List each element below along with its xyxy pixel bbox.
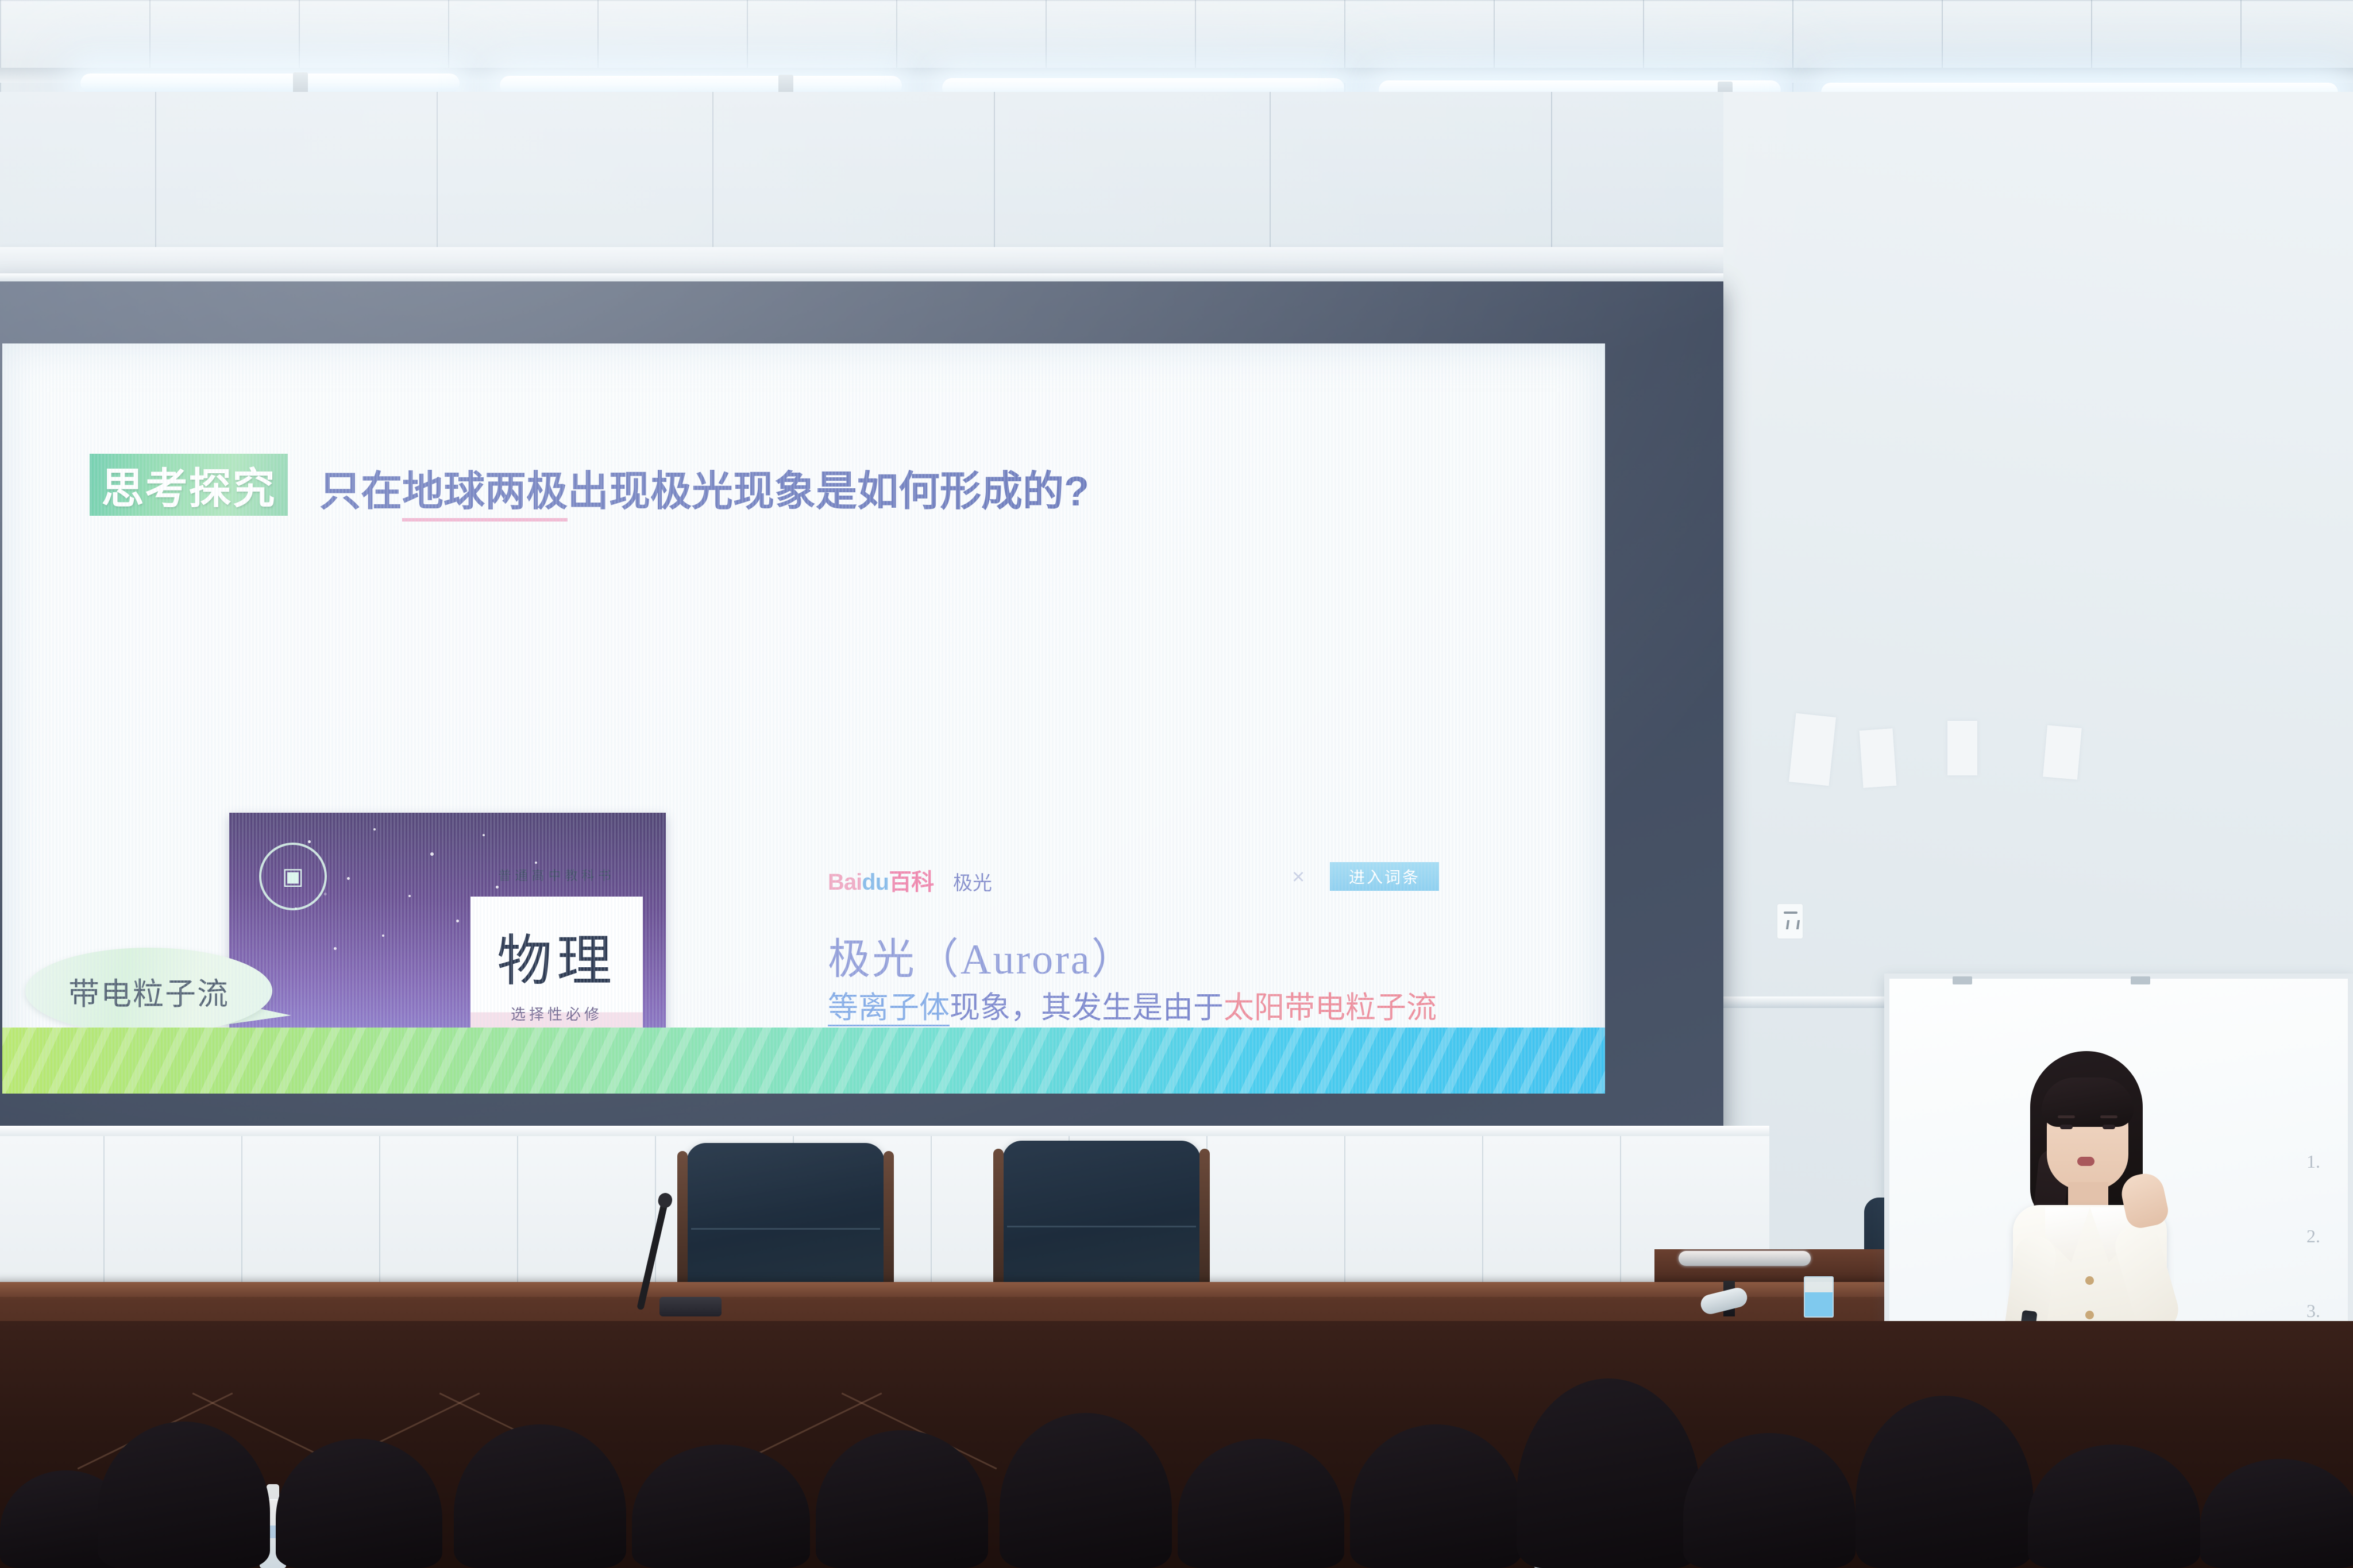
classroom-scene: 思考探究 只在地球两极出现极光现象是如何形成的? (0, 0, 2353, 1568)
microphone-base (659, 1297, 722, 1316)
speech-bubble-label: 带电粒子流 (68, 968, 229, 1014)
presenter-mouth (2077, 1157, 2094, 1166)
textbook-emblem-icon: ▣ (259, 843, 327, 910)
baike-entry-term: 极光 (953, 867, 992, 895)
run-1: 现象，其发生是由于 (950, 991, 1224, 1025)
logo-du: du (862, 870, 889, 895)
enter-entry-button-label: 进入词条 (1349, 865, 1420, 888)
tape-residue (1860, 728, 1897, 788)
section-badge: 思考探究 (90, 454, 288, 516)
logo-baike: 百科 (889, 870, 934, 895)
whiteboard-note-1: 1. (2306, 1151, 2320, 1172)
balance-beam-apparatus (1679, 1251, 1811, 1266)
run-plasma: 等离子体 (828, 991, 950, 1026)
baike-heading: 极光（Aurora） (828, 925, 1136, 986)
speech-bubble: 带电粒子流 (25, 948, 272, 1034)
power-outlet-icon (1777, 903, 1803, 939)
tape-residue (1947, 721, 1977, 775)
textbook-series: 选择性必修 (511, 1003, 603, 1024)
presentation-slide[interactable]: 思考探究 只在地球两极出现极光现象是如何形成的? (2, 343, 1605, 1094)
conference-chair-right (1002, 1141, 1201, 1296)
textbook-subject: 物理 (497, 916, 616, 996)
title-suffix: 出现极光现象是如何形成的? (568, 469, 1089, 515)
title-underlined-term: 地球两极 (402, 469, 568, 522)
baidu-baike-logo-icon: Baidu百科 (828, 863, 934, 897)
slide-bottom-strip (2, 1028, 1605, 1094)
close-icon[interactable]: × (1292, 865, 1305, 890)
whiteboard-note-3: 3. (2306, 1300, 2320, 1322)
whiteboard-note-2: 2. (2306, 1226, 2320, 1247)
section-badge-label: 思考探究 (102, 454, 276, 516)
enter-entry-button[interactable]: 进入词条 (1330, 862, 1439, 891)
tape-residue (1789, 713, 1836, 786)
title-prefix: 只在 (319, 469, 402, 515)
textbook-publisher-head: 普通高中教科书 (470, 866, 643, 884)
presenter-fringe (2042, 1077, 2134, 1127)
page-title: 只在地球两极出现极光现象是如何形成的? (319, 457, 1089, 517)
ceiling-light-tube-1 (80, 74, 460, 93)
tape-residue (2043, 725, 2082, 780)
logo-bai: Bai (828, 870, 862, 895)
conference-chair-left (686, 1143, 885, 1298)
projection-screen-frame: 思考探究 只在地球两极出现极光现象是如何形成的? (0, 280, 1723, 1136)
beaker-with-blue-liquid (1804, 1276, 1834, 1318)
